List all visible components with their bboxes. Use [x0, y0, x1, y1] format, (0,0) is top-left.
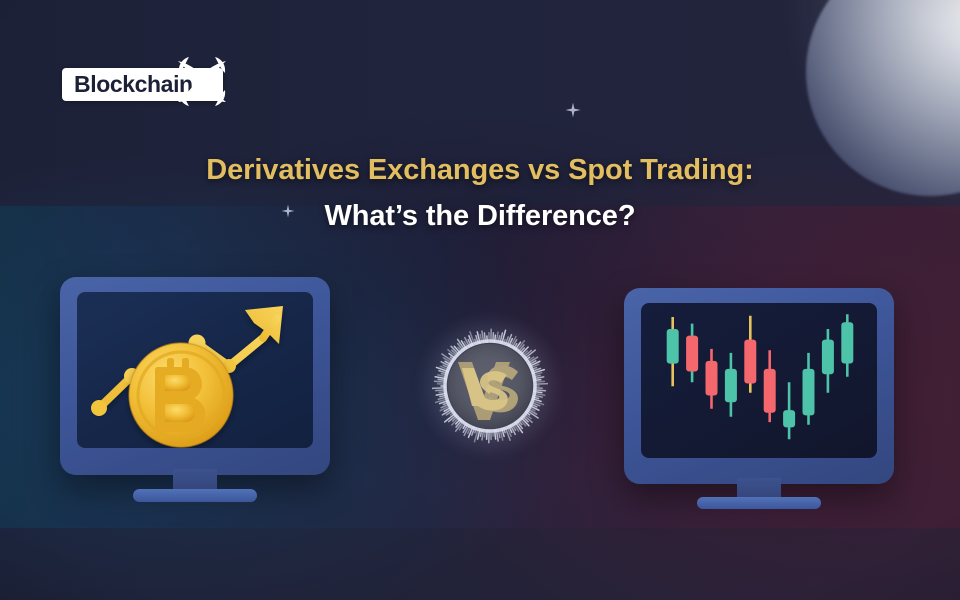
bitcoin-coin-icon — [129, 343, 233, 447]
candle — [783, 382, 795, 439]
monitor-screen-left — [77, 292, 313, 448]
candle — [841, 314, 853, 377]
candle — [744, 316, 756, 393]
spot-trading-monitor[interactable] — [60, 277, 330, 514]
headline-block: Derivatives Exchanges vs Spot Trading: W… — [0, 152, 960, 234]
headline-line-1: Derivatives Exchanges vs Spot Trading: — [0, 152, 960, 189]
hero-banner: Blockchain Derivatives Exchanges vs Spot… — [0, 0, 960, 600]
candle — [667, 317, 679, 386]
candle — [725, 353, 737, 417]
monitor-base-right — [697, 497, 821, 509]
candle — [764, 350, 776, 422]
headline-line-2: What’s the Difference? — [0, 198, 960, 235]
derivatives-candlestick-monitor[interactable] — [624, 288, 894, 520]
candlestick-chart-graphic — [641, 303, 877, 458]
candle — [822, 329, 834, 393]
versus-badge[interactable] — [432, 328, 548, 444]
monitor-base-left — [133, 489, 257, 502]
monitor-screen-right — [641, 303, 877, 458]
candle — [686, 324, 698, 383]
candle — [706, 349, 718, 409]
trend-chart-graphic — [77, 292, 313, 448]
candle — [803, 353, 815, 425]
versus-halo — [416, 312, 564, 460]
brand-logo[interactable]: Blockchain — [62, 60, 223, 108]
x-swoosh-icon — [168, 52, 230, 114]
